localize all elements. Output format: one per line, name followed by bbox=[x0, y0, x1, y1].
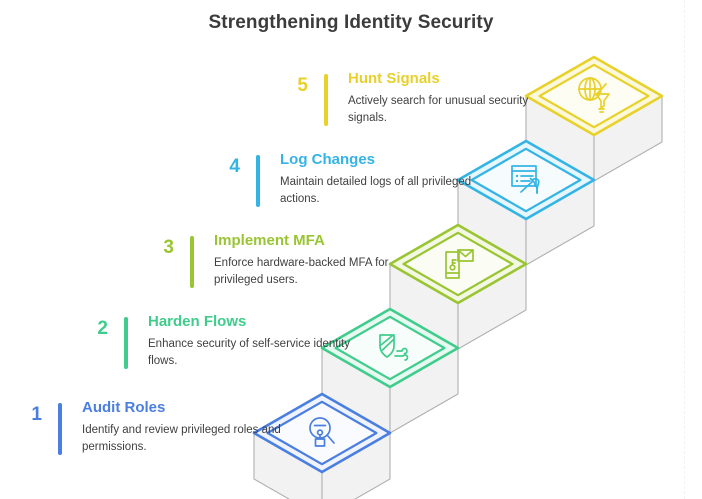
step-heading-2: Harden Flows bbox=[148, 313, 246, 331]
step-number-5: 5 bbox=[282, 76, 308, 95]
step-description-3: Enforce hardware-backed MFA for privileg… bbox=[214, 255, 429, 288]
step-accent-bar-3 bbox=[190, 236, 194, 288]
step-heading-5: Hunt Signals bbox=[348, 70, 440, 88]
step-number-2: 2 bbox=[82, 319, 108, 338]
step-number-4: 4 bbox=[214, 157, 240, 176]
step-accent-bar-1 bbox=[58, 403, 62, 455]
step-heading-3: Implement MFA bbox=[214, 232, 325, 250]
step-number-3: 3 bbox=[148, 238, 174, 257]
step-heading-4: Log Changes bbox=[280, 151, 375, 169]
step-accent-bar-5 bbox=[324, 74, 328, 126]
step-accent-bar-2 bbox=[124, 317, 128, 369]
step-description-2: Enhance security of self-service identit… bbox=[148, 336, 363, 369]
step-description-4: Maintain detailed logs of all privileged… bbox=[280, 174, 495, 207]
step-description-1: Identify and review privileged roles and… bbox=[82, 422, 297, 455]
step-heading-1: Audit Roles bbox=[82, 399, 165, 417]
step-accent-bar-4 bbox=[256, 155, 260, 207]
step-number-1: 1 bbox=[16, 405, 42, 424]
infographic-canvas: Strengthening Identity Security 1Audit R… bbox=[0, 0, 702, 499]
step-description-5: Actively search for unusual security sig… bbox=[348, 93, 563, 126]
